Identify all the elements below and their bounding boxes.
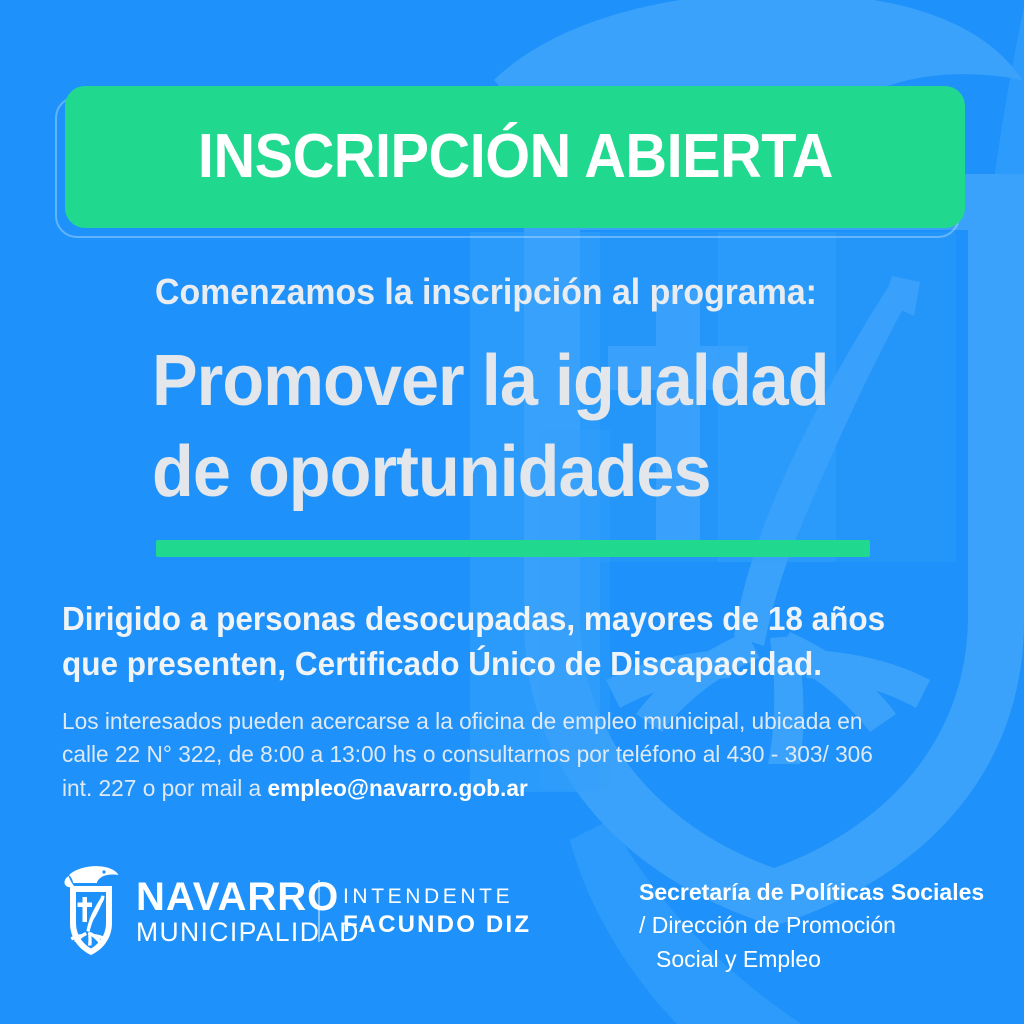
contact-mail-prefix: int. 227 o por mail a	[62, 775, 267, 801]
contact-line-3: int. 227 o por mail a empleo@navarro.gob…	[62, 772, 964, 805]
navarro-coat-of-arms-icon	[60, 864, 122, 960]
brand-subtitle: MUNICIPALIDAD	[136, 918, 360, 948]
program-eyebrow-text: Comenzamos la inscripción al programa:	[155, 272, 851, 312]
secretaria-line-3: Social y Empleo	[639, 943, 984, 976]
contact-line-1: Los interesados pueden acercarse a la of…	[62, 705, 964, 738]
brand-name: NAVARRO	[136, 877, 360, 918]
secretaria-line-1: Secretaría de Políticas Sociales	[639, 876, 984, 909]
eligibility-paragraph: Dirigido a personas desocupadas, mayores…	[62, 597, 945, 687]
green-divider-rule	[156, 540, 870, 557]
banner-title: INSCRIPCIÓN ABIERTA	[197, 126, 832, 188]
secretaria-block: Secretaría de Políticas Sociales / Direc…	[639, 876, 984, 976]
poster-canvas: INSCRIPCIÓN ABIERTA Comenzamos la inscri…	[0, 0, 1024, 1024]
eligibility-line-1: Dirigido a personas desocupadas, mayores…	[62, 597, 945, 642]
intendente-block: INTENDENTE FACUNDO DIZ	[343, 884, 531, 940]
poster-footer: NAVARRO MUNICIPALIDAD INTENDENTE FACUNDO…	[0, 858, 1024, 978]
inscription-open-banner: INSCRIPCIÓN ABIERTA	[65, 86, 965, 228]
eligibility-line-2: que presenten, Certificado Único de Disc…	[62, 642, 945, 687]
contact-paragraph: Los interesados pueden acercarse a la of…	[62, 705, 964, 805]
contact-line-2: calle 22 N° 322, de 8:00 a 13:00 hs o co…	[62, 738, 964, 771]
headline-line-1: Promover la igualdad	[152, 336, 903, 427]
program-headline: Promover la igualdad de oportunidades	[152, 336, 903, 517]
intendente-name: FACUNDO DIZ	[343, 910, 531, 940]
contact-email[interactable]: empleo@navarro.gob.ar	[267, 775, 527, 801]
footer-divider	[318, 880, 320, 942]
headline-line-2: de oportunidades	[152, 427, 903, 518]
brand-wordmark: NAVARRO MUNICIPALIDAD	[136, 877, 360, 947]
intendente-label: INTENDENTE	[343, 884, 531, 910]
secretaria-line-2: / Dirección de Promoción	[639, 909, 984, 942]
navarro-municipality-logo: NAVARRO MUNICIPALIDAD	[60, 864, 360, 960]
